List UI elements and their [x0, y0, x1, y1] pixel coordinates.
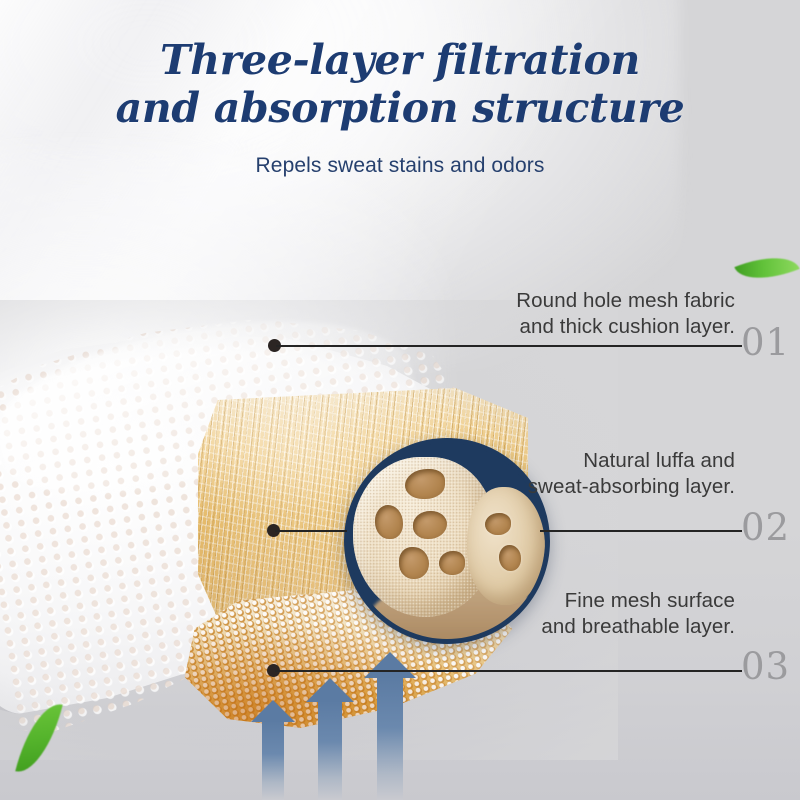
callout-text: Fine mesh surface and breathable layer. — [450, 588, 735, 640]
up-arrow-icon — [306, 678, 354, 702]
callout-number: 02 — [741, 509, 790, 546]
callout-text: Natural luffa and sweat-absorbing layer. — [440, 448, 735, 500]
luffa-pore — [499, 545, 521, 571]
up-arrow-shaft — [377, 676, 403, 800]
luffa-pore — [485, 513, 511, 535]
callout-number: 03 — [741, 648, 790, 685]
callout-line — [540, 530, 742, 532]
subheadline: Repels sweat stains and odors — [0, 154, 800, 178]
callout-text: Round hole mesh fabric and thick cushion… — [420, 288, 735, 340]
callout-number: 01 — [741, 324, 790, 361]
up-arrow-icon — [251, 700, 295, 722]
luffa-pore — [439, 551, 465, 575]
callout-line — [276, 345, 742, 347]
callout-line — [275, 530, 347, 532]
up-arrow-shaft — [262, 720, 284, 800]
headline: Three-layer filtration and absorption st… — [0, 36, 800, 132]
luffa-pore — [399, 547, 429, 579]
up-arrow-icon — [364, 652, 416, 678]
luffa-pore — [375, 505, 403, 539]
product-infographic: Three-layer filtration and absorption st… — [0, 0, 800, 800]
up-arrow-shaft — [318, 700, 342, 800]
luffa-pore — [405, 469, 445, 499]
callout-line — [275, 670, 742, 672]
